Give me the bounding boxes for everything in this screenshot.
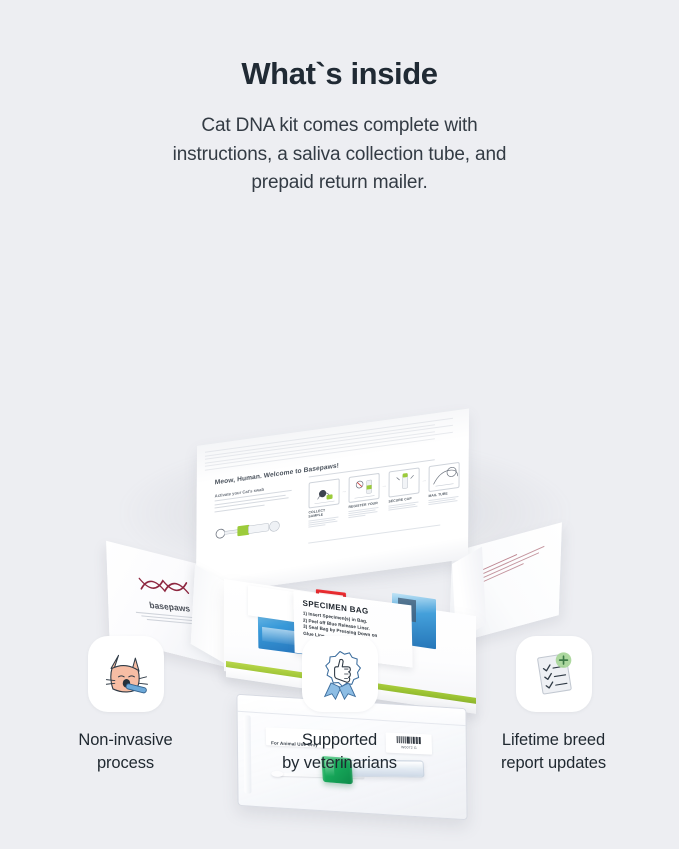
- sheet-step-4: MAIL TUBE: [428, 462, 459, 507]
- sheet-step-3: SECURE CAP: [388, 467, 419, 512]
- sheet-step-2-illustration: [348, 473, 379, 503]
- feature-lifetime-updates: Lifetime breed report updates: [484, 636, 624, 776]
- feature-vet-supported: Supported by veterinarians: [270, 636, 410, 776]
- feature-lifetime-updates-label: Lifetime breed report updates: [484, 729, 624, 776]
- page-subtitle-line-1: Cat DNA kit comes complete with: [0, 112, 679, 141]
- feature-label-line-1: Non-invasive: [56, 729, 196, 752]
- header-section: What`s inside Cat DNA kit comes complete…: [0, 0, 679, 198]
- sheet-footnote: [308, 525, 440, 544]
- feature-label-line-2: report updates: [484, 752, 624, 775]
- sheet-step-3-illustration: [388, 467, 419, 497]
- feature-non-invasive-label: Non-invasive process: [56, 729, 196, 776]
- page-subtitle-line-2: instructions, a saliva collection tube, …: [0, 141, 679, 170]
- page-subtitle-line-3: prepaid return mailer.: [0, 169, 679, 198]
- sheet-step-4-illustration: [428, 462, 459, 492]
- sheet-step-1: COLLECT SAMPLE: [308, 478, 339, 529]
- feature-label-line-1: Lifetime breed: [484, 729, 624, 752]
- product-stage: basepaws Meow, Human. Welcome to Basepaw…: [0, 212, 679, 632]
- feature-label-line-1: Supported: [270, 729, 410, 752]
- clipboard-updates-icon: [516, 636, 592, 712]
- sheet-tube-illustration: [214, 518, 286, 542]
- product-photo: basepaws Meow, Human. Welcome to Basepaw…: [0, 212, 679, 632]
- feature-label-line-2: process: [56, 752, 196, 775]
- sheet-step-2: REGISTER YOUR: [348, 473, 379, 520]
- page-root: What`s inside Cat DNA kit comes complete…: [0, 0, 679, 849]
- sheet-left-column: Activate your Cat's swab: [215, 482, 299, 514]
- feature-vet-supported-label: Supported by veterinarians: [270, 729, 410, 776]
- page-subtitle: Cat DNA kit comes complete with instruct…: [0, 112, 679, 199]
- feature-label-line-2: by veterinarians: [270, 752, 410, 775]
- feature-non-invasive: Non-invasive process: [56, 636, 196, 776]
- vet-badge-icon: [302, 636, 378, 712]
- sheet-step-arrow-2: →: [382, 472, 387, 490]
- page-title: What`s inside: [0, 56, 679, 92]
- sheet-step-1-illustration: [308, 478, 339, 508]
- cat-swab-icon: [88, 636, 164, 712]
- sheet-step-arrow-3: →: [422, 466, 427, 484]
- features-section: Non-invasive process Supported by veteri…: [0, 636, 679, 776]
- basepaws-dna-icon: [135, 575, 197, 597]
- sheet-step-arrow-1: →: [342, 477, 347, 495]
